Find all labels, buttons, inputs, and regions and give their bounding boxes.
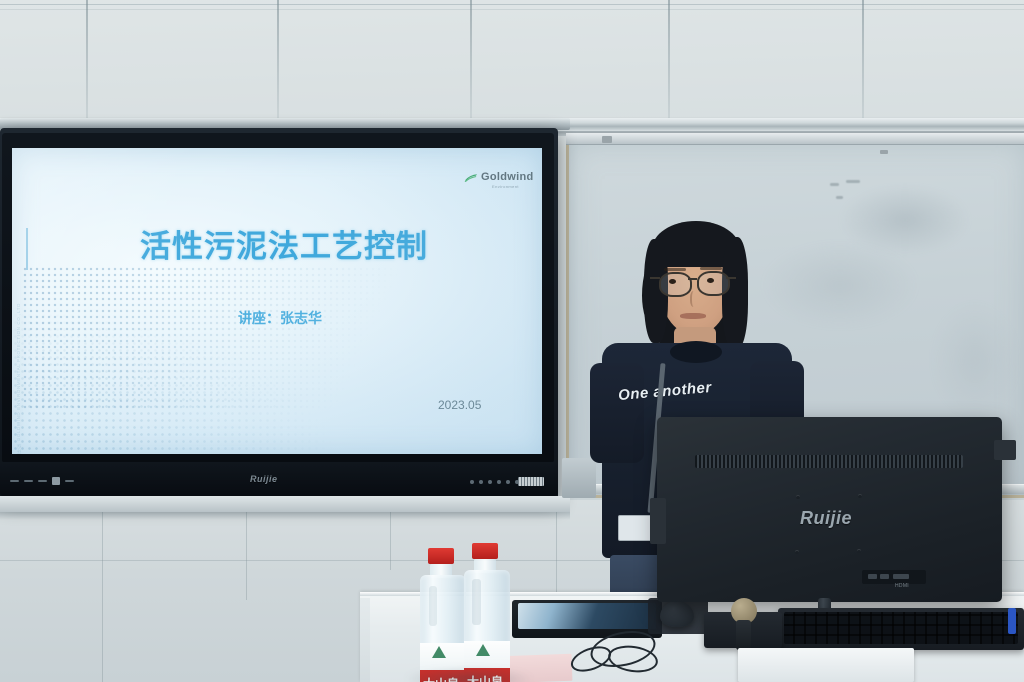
monitor-vesa-screw [857, 549, 861, 553]
bottle-cap [472, 543, 498, 559]
bottle-highlight [472, 579, 481, 625]
water-bottle[interactable]: 大山泉 [462, 543, 514, 682]
eyebrow-right [700, 267, 722, 270]
control-dash-icon[interactable] [24, 480, 33, 482]
monitor-port [868, 574, 877, 579]
goldwind-logo: Goldwind [464, 172, 534, 183]
wall-panel-seam [668, 0, 670, 122]
control-dot-icon[interactable] [506, 480, 510, 484]
slide-date: 2023.05 [438, 398, 481, 412]
glasses-bridge [688, 278, 697, 280]
eye-right [707, 278, 714, 283]
monitor-port [893, 574, 909, 579]
bottle-mountain-icon [432, 646, 446, 658]
computer-mouse[interactable] [660, 601, 694, 627]
smartboard-spec-sticker [518, 477, 544, 486]
glasses-arm-left [650, 277, 660, 279]
slide-accent-line [26, 228, 28, 270]
goldwind-wing-icon [464, 173, 478, 183]
desk-left-leg-panel [360, 598, 370, 682]
slide-subtitle: 讲座：张志华 [238, 308, 322, 328]
monitor-vent-grille [695, 455, 963, 468]
glasses-lens-left [659, 272, 692, 297]
ceiling-line [0, 9, 1024, 10]
whiteboard-smudge [930, 300, 1020, 420]
glasses-arm-right [726, 277, 736, 279]
control-dot-icon[interactable] [479, 480, 483, 484]
nose [690, 291, 699, 307]
monitor-brand-logo: Ruijie [800, 508, 852, 529]
whiteboard-top-frame [566, 133, 1024, 145]
smartboard-left-controls[interactable] [10, 477, 74, 485]
shirt-collar [670, 341, 722, 363]
monitor-vesa-screw [796, 495, 800, 499]
smartboard-right-controls[interactable] [470, 480, 519, 484]
control-dash-icon[interactable] [10, 480, 19, 482]
tile-grout-line [102, 500, 103, 682]
tablet-screen[interactable] [518, 603, 656, 629]
monitor-side-connector [994, 440, 1016, 460]
glasses-lens-right [697, 271, 730, 296]
monitor-left-bracket [650, 498, 666, 544]
wall-panel-seam [86, 0, 88, 124]
mouth [680, 313, 706, 319]
id-badge [618, 515, 652, 541]
wall-panel-seam [277, 0, 279, 120]
hair-side-right [722, 237, 748, 349]
slide-dot-field [22, 266, 442, 411]
smartboard-brand-label: Ruijie [250, 474, 278, 484]
wall-panel-seam [862, 0, 864, 124]
bottle-highlight [429, 586, 437, 626]
monitor-port [880, 574, 889, 579]
control-dash-icon[interactable] [65, 480, 74, 482]
whiteboard-mark [830, 183, 839, 186]
monitor-hdmi-label: HDMI [895, 583, 909, 589]
control-dot-icon[interactable] [497, 480, 501, 484]
whiteboard-clip [602, 136, 612, 143]
eyebrow-left [664, 268, 686, 271]
microphone-body[interactable] [736, 620, 751, 650]
wall-panel-seam [470, 0, 472, 120]
control-dot-icon[interactable] [470, 480, 474, 484]
bottle-mountain-icon [476, 644, 490, 656]
keyboard-keys[interactable] [784, 612, 1018, 644]
blue-pen[interactable] [1008, 608, 1016, 634]
goldwind-logo-subtext: Environment [492, 185, 519, 189]
slide-title: 活性污泥法工艺控制 [140, 221, 428, 266]
whiteboard-mark [836, 196, 843, 199]
goldwind-logo-text: Goldwind [481, 172, 534, 183]
sleeve-left [590, 363, 644, 463]
monitor-vesa-screw [795, 550, 799, 554]
bottle-cap [428, 548, 454, 564]
eye-left [669, 279, 676, 284]
presentation-screen[interactable]: 金风环保 GOLDWIND ENVIRONMENTAL PROTECTION C… [12, 148, 542, 454]
slide-vertical-company-text: 金风环保 GOLDWIND ENVIRONMENTAL PROTECTION C… [16, 303, 22, 454]
whiteboard-clip [880, 150, 888, 154]
ceiling-line [0, 4, 1024, 5]
display-wall-shadow [0, 512, 570, 520]
display-lower-housing [0, 496, 570, 512]
display-bottom-bezel [0, 462, 558, 496]
control-square-icon[interactable] [52, 477, 60, 485]
control-dot-icon[interactable] [488, 480, 492, 484]
control-dash-icon[interactable] [38, 480, 47, 482]
monitor-vesa-screw [858, 494, 862, 498]
classroom-photo-scene: 金风环保 GOLDWIND ENVIRONMENTAL PROTECTION C… [0, 0, 1024, 682]
whiteboard-mark [846, 180, 860, 183]
desk-white-box [738, 648, 914, 682]
